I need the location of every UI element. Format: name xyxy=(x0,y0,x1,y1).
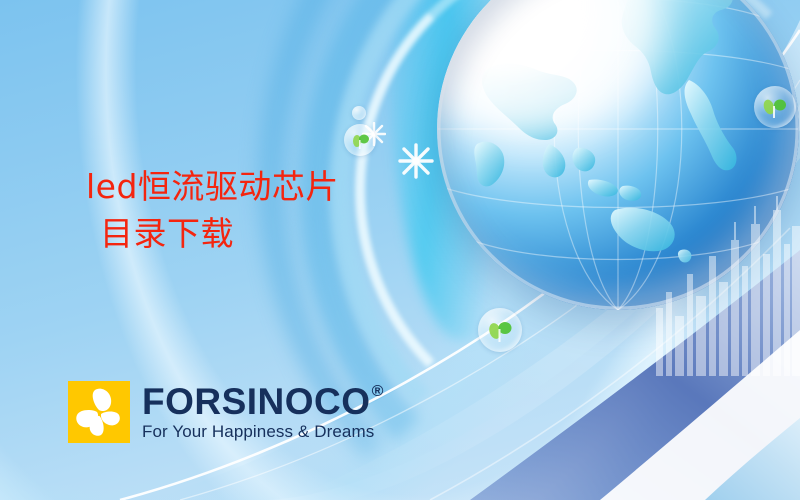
headline-line-2: 目录下载 xyxy=(86,211,339,258)
city-skyline-silhouette xyxy=(650,196,800,376)
bubble-with-green-sprout xyxy=(344,124,376,156)
headline-line-1: led恒流驱动芯片 xyxy=(86,164,339,211)
brand-text: FORSINOCO xyxy=(142,383,371,420)
page-title: led恒流驱动芯片 目录下载 xyxy=(86,164,339,258)
brand-name: FORSINOCO ® xyxy=(142,383,384,420)
pinwheel-petals-mark xyxy=(68,381,130,443)
brand-tagline: For Your Happiness & Dreams xyxy=(142,423,374,442)
registered-trademark-icon: ® xyxy=(372,384,384,400)
promo-banner: led恒流驱动芯片 目录下载 FORSINOCO ® For Your Happ… xyxy=(0,0,800,500)
company-logo: FORSINOCO ® For Your Happiness & Dreams xyxy=(68,381,384,443)
sparkle-starburst xyxy=(362,122,386,151)
bubble-small xyxy=(352,106,366,120)
